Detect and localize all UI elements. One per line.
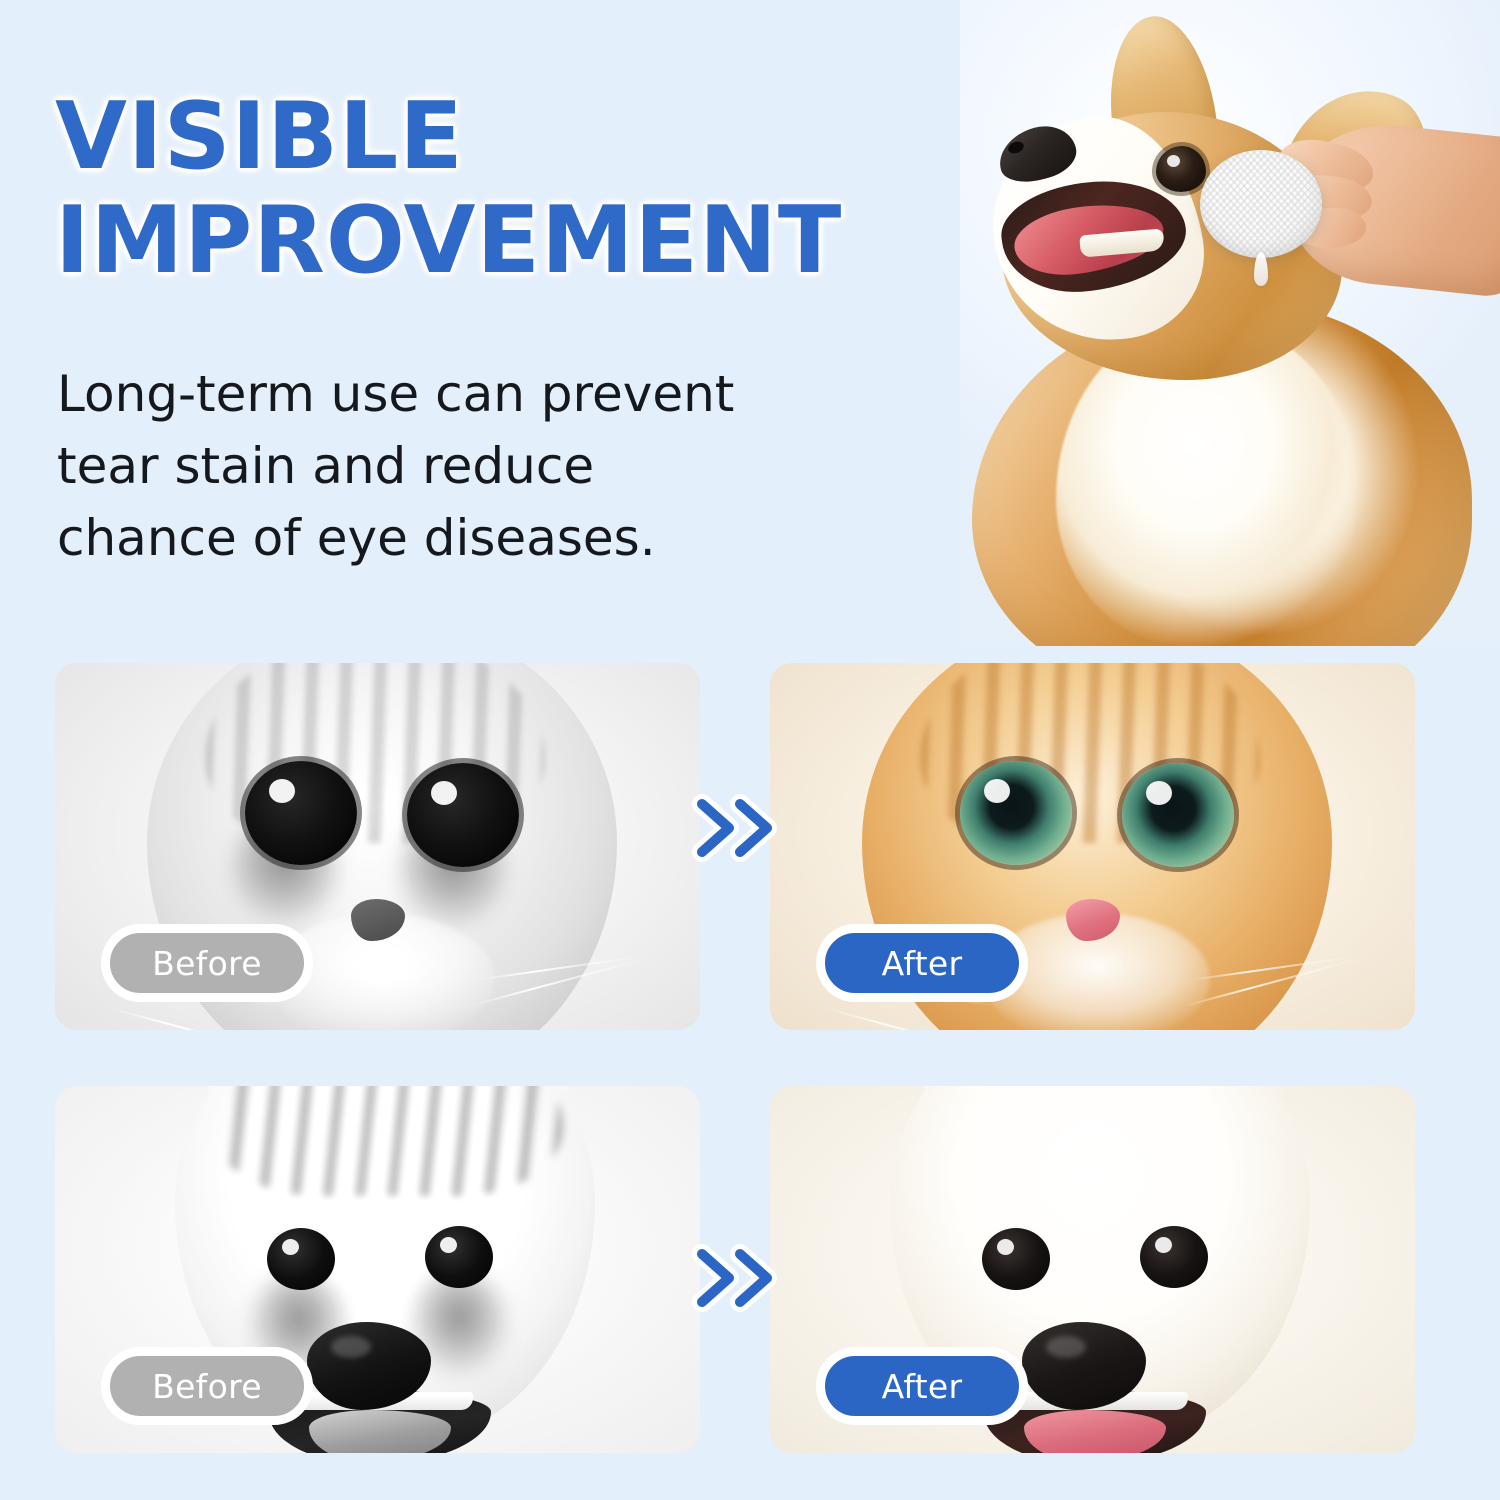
subtitle-line-1: Long-term use can prevent xyxy=(57,358,877,430)
dog-tongue xyxy=(1024,1410,1166,1453)
before-badge-cat: Before xyxy=(101,924,313,1002)
cat-eye-left xyxy=(960,761,1072,865)
subtitle-line-3: chance of eye diseases. xyxy=(57,502,877,574)
corgi-eye xyxy=(1156,146,1206,192)
subtitle-line-2: tear stain and reduce xyxy=(57,430,877,502)
cotton-pad-icon xyxy=(1200,150,1322,258)
hero-dog-photo xyxy=(960,0,1500,646)
dog-eye-left xyxy=(982,1228,1050,1290)
page-subtitle: Long-term use can prevent tear stain and… xyxy=(57,358,877,574)
cat-eye-right xyxy=(1122,763,1234,867)
after-badge-dog: After xyxy=(816,1347,1028,1425)
dog-head-fur xyxy=(213,1086,563,1196)
dog-eye-right xyxy=(1140,1226,1208,1288)
dog-eye-right xyxy=(425,1226,493,1288)
double-chevron-right-icon xyxy=(693,795,777,861)
headline-line-2: IMPROVEMENT xyxy=(55,188,985,292)
before-badge-dog: Before xyxy=(101,1347,313,1425)
product-feature-banner: VISIBLE IMPROVEMENT Long-term use can pr… xyxy=(0,0,1500,1500)
double-chevron-right-icon xyxy=(693,1245,777,1311)
after-badge-cat: After xyxy=(816,924,1028,1002)
before-panel-cat: Before xyxy=(55,663,700,1030)
after-panel-cat: After xyxy=(770,663,1415,1030)
before-panel-dog: Before xyxy=(55,1086,700,1453)
cat-eye-right xyxy=(407,763,519,867)
dog-eye-left xyxy=(267,1228,335,1290)
after-panel-dog: After xyxy=(770,1086,1415,1453)
cat-eye-left xyxy=(245,761,357,865)
headline-line-1: VISIBLE xyxy=(55,84,985,188)
page-title: VISIBLE IMPROVEMENT xyxy=(55,84,985,292)
dog-snout-highlight xyxy=(1046,1336,1086,1358)
dog-snout-highlight xyxy=(331,1336,371,1358)
dog-tongue xyxy=(309,1410,451,1453)
